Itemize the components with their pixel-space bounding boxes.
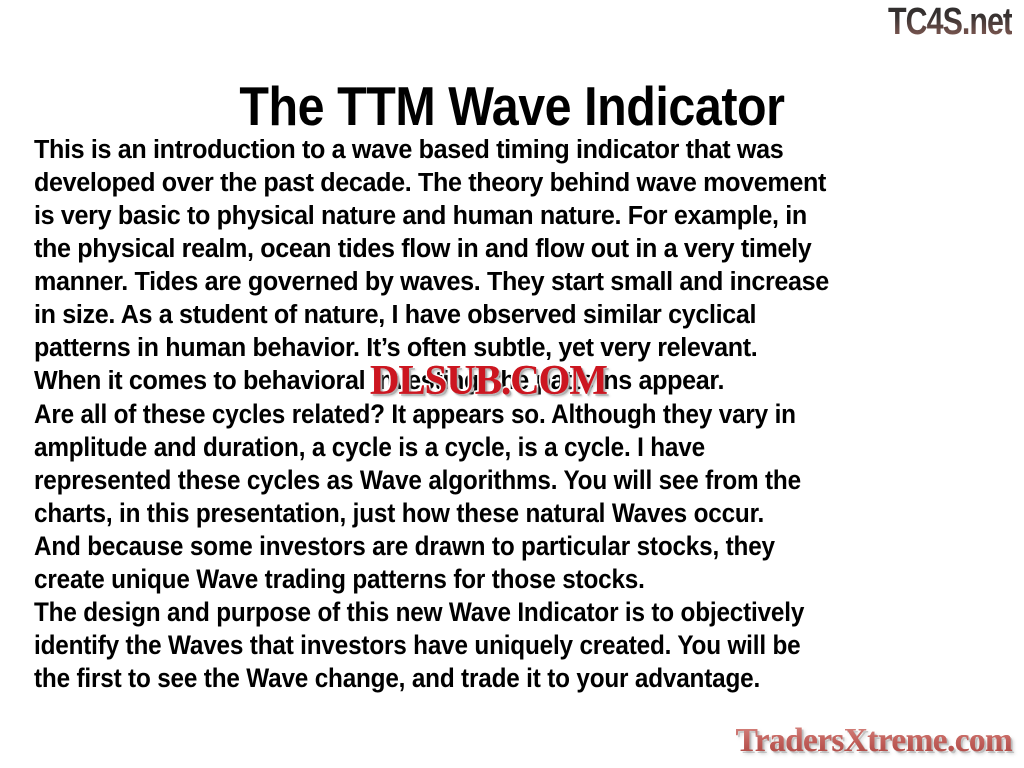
copy-line: developed over the past decade. The theo… bbox=[34, 167, 980, 200]
copy-line: is very basic to physical nature and hum… bbox=[34, 200, 980, 233]
copy-line: identify the Waves that investors have u… bbox=[34, 629, 898, 662]
copy-line: represented these cycles as Wave algorit… bbox=[34, 464, 898, 497]
paragraph-three: The design and purpose of this new Wave … bbox=[34, 596, 994, 695]
dlsub-watermark: DLSUB.COM DLSUB.COM bbox=[370, 360, 607, 402]
slide-canvas: TC4S.net The TTM Wave Indicator This is … bbox=[0, 0, 1024, 768]
copy-line: manner. Tides are governed by waves. The… bbox=[34, 266, 980, 299]
copy-line: create unique Wave trading patterns for … bbox=[34, 563, 898, 596]
copy-line: in size. As a student of nature, I have … bbox=[34, 299, 980, 332]
paragraph-two: Are all of these cycles related? It appe… bbox=[34, 398, 994, 596]
brand-logo-tc4s: TC4S.net bbox=[888, 2, 1012, 42]
copy-line: charts, in this presentation, just how t… bbox=[34, 497, 898, 530]
watermark-fill: DLSUB.COM bbox=[370, 360, 607, 402]
brand-logo-fill: TradersXtreme.com bbox=[736, 722, 1012, 760]
copy-line: The design and purpose of this new Wave … bbox=[34, 596, 898, 629]
brand-logo-tradersxtreme: TradersXtreme.com TradersXtreme.com bbox=[736, 722, 1012, 760]
copy-line: And because some investors are drawn to … bbox=[34, 530, 898, 563]
body-copy: This is an introduction to a wave based … bbox=[34, 134, 994, 695]
copy-line: the first to see the Wave change, and tr… bbox=[34, 662, 898, 695]
copy-line: the physical realm, ocean tides flow in … bbox=[34, 233, 980, 266]
copy-line: amplitude and duration, a cycle is a cyc… bbox=[34, 431, 898, 464]
page-title: The TTM Wave Indicator bbox=[61, 76, 962, 136]
copy-line: This is an introduction to a wave based … bbox=[34, 134, 980, 167]
